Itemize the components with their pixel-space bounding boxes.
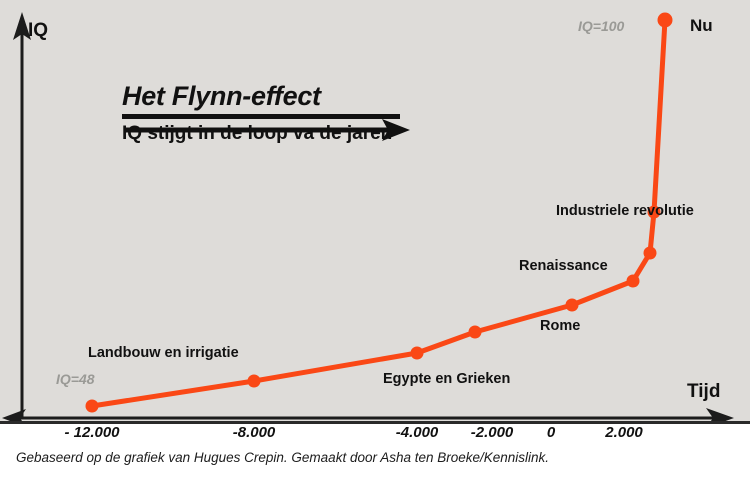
point-label-nu: Nu [690, 16, 713, 35]
x-tick-label: - 12.000 [64, 424, 119, 441]
title-underline [122, 114, 400, 119]
data-point [248, 375, 261, 388]
x-tick-label: -4.000 [396, 424, 439, 441]
data-point [469, 326, 482, 339]
point-label-renaissance: Renaissance [519, 258, 608, 274]
annotation-iq-low: IQ=48 [56, 371, 95, 387]
x-axis [2, 408, 734, 421]
point-label-rome: Rome [540, 318, 580, 334]
chart-plot-area: IQ Tijd Het Flynn-effect IQ stijgt in de… [0, 0, 750, 424]
x-tick-label-row: - 12.000 -8.000 -4.000 -2.000 0 2.000 [0, 424, 750, 446]
chart-title-block: Het Flynn-effect IQ stijgt in de loop va… [122, 82, 422, 145]
y-axis-title: IQ [28, 20, 48, 42]
x-tick-label: -8.000 [233, 424, 276, 441]
chart-subtitle: IQ stijgt in de loop va de jaren [122, 123, 422, 145]
point-label-landbouw: Landbouw en irrigatie [88, 345, 239, 361]
data-point [658, 13, 673, 28]
point-label-egypte: Egypte en Grieken [383, 371, 510, 387]
annotation-iq-high: IQ=100 [578, 18, 624, 34]
y-axis [13, 12, 31, 418]
x-tick-label: 2.000 [605, 424, 643, 441]
flynn-effect-figure: IQ Tijd Het Flynn-effect IQ stijgt in de… [0, 0, 750, 477]
point-label-industriele-revolutie: Industriele revolutie [556, 203, 640, 219]
data-point [566, 299, 579, 312]
data-point [644, 247, 657, 260]
x-axis-title: Tijd [687, 381, 720, 403]
x-tick-label: -2.000 [471, 424, 514, 441]
chart-title: Het Flynn-effect [122, 82, 422, 110]
data-point [627, 275, 640, 288]
figure-caption: Gebaseerd op de grafiek van Hugues Crepi… [16, 450, 549, 465]
x-tick-label: 0 [547, 424, 555, 441]
data-point [86, 400, 99, 413]
data-point [411, 347, 424, 360]
